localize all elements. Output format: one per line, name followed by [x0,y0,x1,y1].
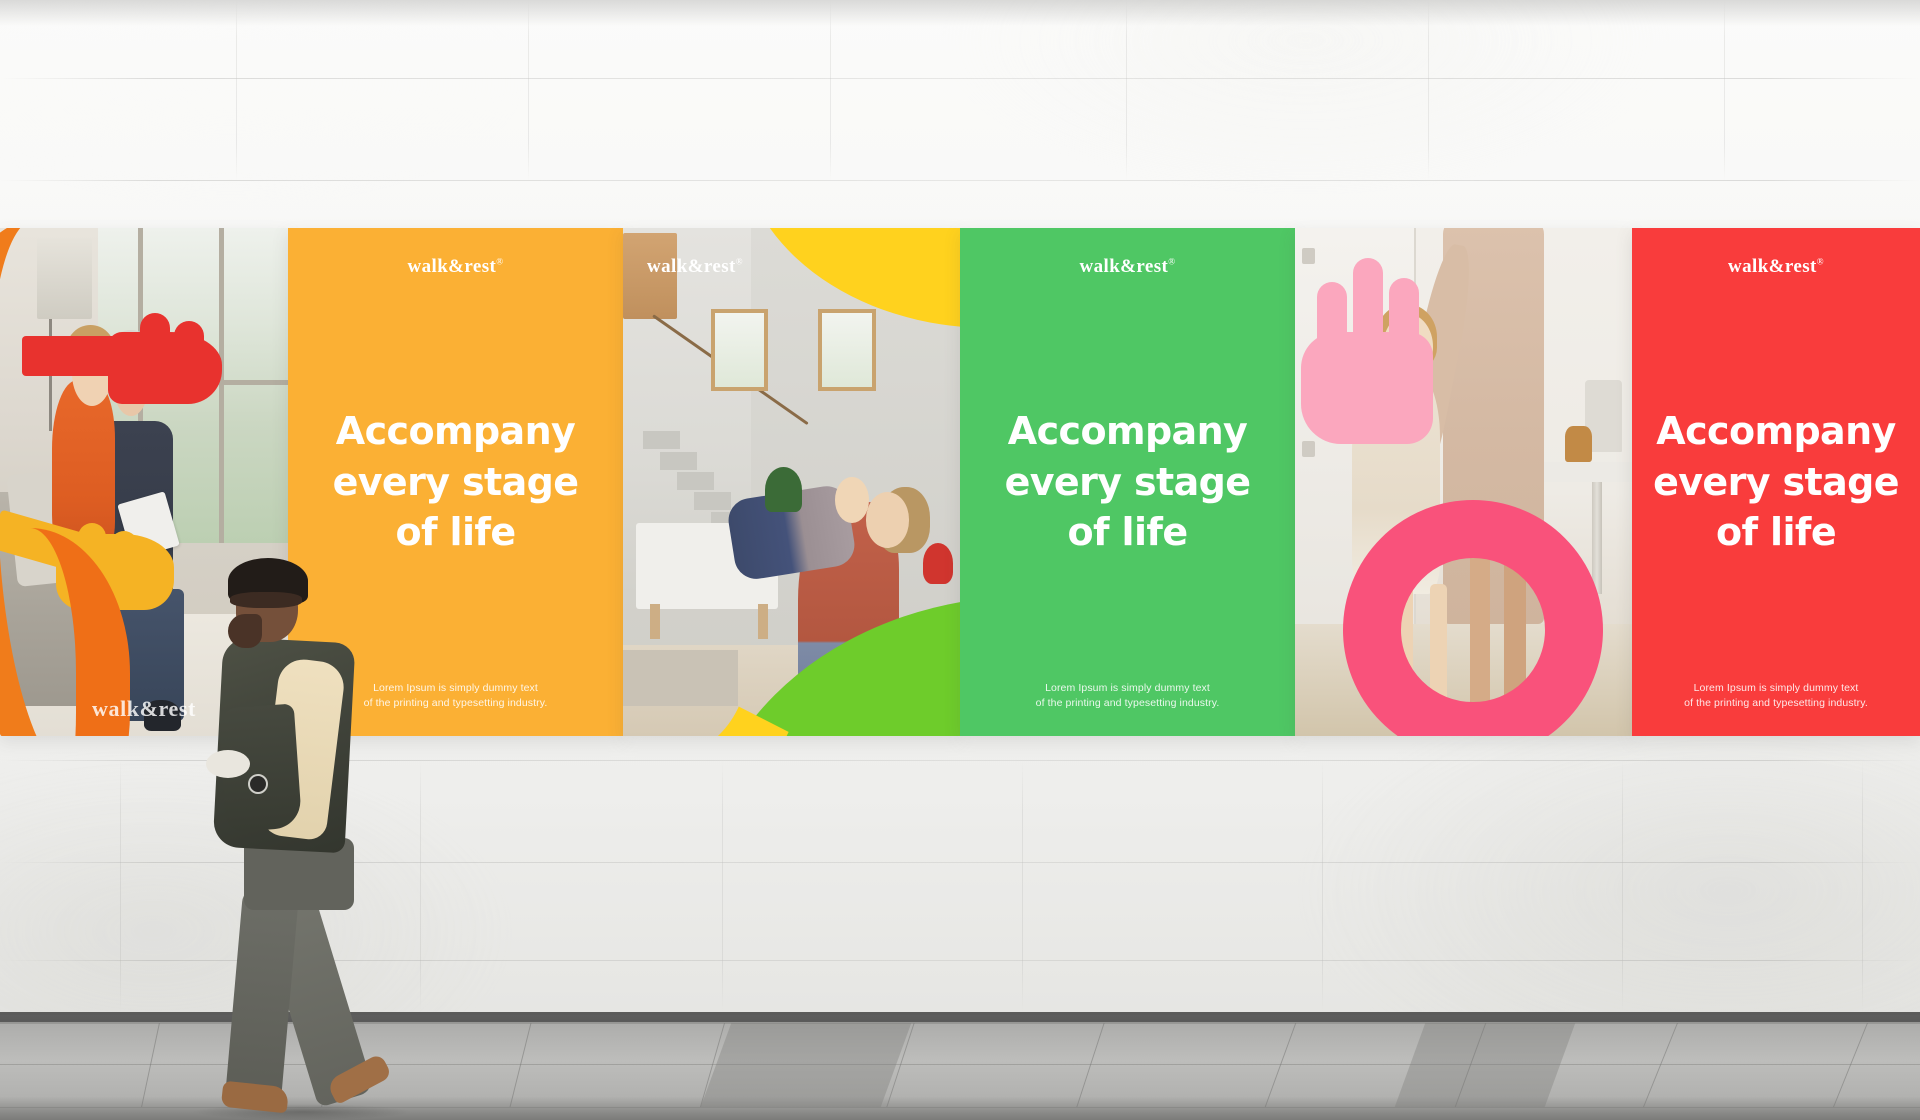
brand-logo: walk&rest® [1632,256,1920,278]
headline-line-3: of life [960,507,1295,558]
brand-logo-text: walk&rest [1728,256,1817,277]
brand-logo: walk&rest® [623,256,960,278]
poster-panel-red[interactable]: walk&rest® Accompany every stage of life… [1632,228,1920,736]
headline-line-3: of life [288,507,623,558]
brand-logo-text: walk&rest [1080,256,1169,277]
trademark-symbol: ® [496,257,503,267]
headline-line-1: Accompany [288,406,623,457]
pedestrian-figure [182,556,412,1120]
poster-headline: Accompany every stage of life [1632,406,1920,558]
headline-line-3: of life [1632,507,1920,558]
brand-logo-text: walk&rest [647,256,736,277]
poster-panel-photo-2[interactable]: walk&rest® [623,228,960,736]
headline-line-2: every stage [1632,457,1920,508]
trademark-symbol: ® [1817,257,1824,267]
hand-graphic-pink [1301,258,1441,444]
poster-headline: Accompany every stage of life [288,406,623,558]
poster-panel-photo-3[interactable] [1295,228,1632,736]
headline-line-2: every stage [288,457,623,508]
footer-line-1: Lorem Ipsum is simply dummy text [960,681,1295,697]
brand-logo: walk&rest® [288,256,623,278]
headline-line-2: every stage [960,457,1295,508]
brand-logo: walk&rest® [960,256,1295,278]
footer-line-1: Lorem Ipsum is simply dummy text [1632,681,1920,697]
footer-line-2: of the printing and typesetting industry… [1632,696,1920,712]
headline-line-1: Accompany [1632,406,1920,457]
trademark-symbol: ® [1168,257,1175,267]
brand-logo-text: walk&rest [408,256,497,277]
poster-footer-note: Lorem Ipsum is simply dummy text of the … [1632,681,1920,713]
trademark-symbol: ® [736,257,743,267]
headline-line-1: Accompany [960,406,1295,457]
wall-top-shadow [0,0,1920,26]
poster-footer-note: Lorem Ipsum is simply dummy text of the … [960,681,1295,713]
poster-headline: Accompany every stage of life [960,406,1295,558]
billboard-scene: walk&rest walk&rest® Accompany every sta… [0,0,1920,1120]
poster-panel-green[interactable]: walk&rest® Accompany every stage of life… [960,228,1295,736]
footer-line-2: of the printing and typesetting industry… [960,696,1295,712]
